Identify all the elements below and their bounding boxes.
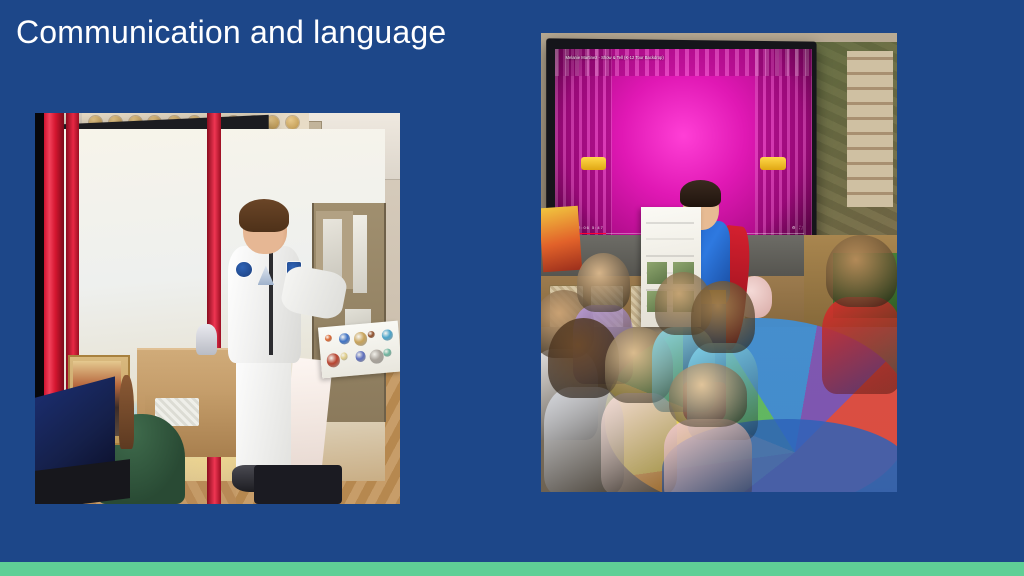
planets-chart xyxy=(318,321,400,379)
photo-right-canvas: Melanie Martinez - Show & Tell (K-12 Tou… xyxy=(541,33,897,492)
astronaut-suit-zip xyxy=(269,250,273,356)
trophy xyxy=(196,324,218,355)
superman-child-hair xyxy=(680,180,721,208)
screen-curtain-right xyxy=(755,49,811,242)
photo-left-canvas xyxy=(35,113,400,504)
video-player-controls-right[interactable]: ⚙ ⛶ xyxy=(792,225,804,230)
child-clothing xyxy=(664,419,752,492)
planet-illustration xyxy=(324,335,332,343)
page-title: Communication and language xyxy=(16,12,446,52)
wall-artwork-display xyxy=(847,51,893,207)
planet-illustration xyxy=(340,353,348,361)
astronaut-child-hair xyxy=(239,199,288,232)
fullscreen-icon[interactable]: ⛶ xyxy=(800,225,804,230)
planet-illustration xyxy=(354,351,365,362)
child-hair xyxy=(577,253,630,312)
phonics-sound-button xyxy=(286,116,299,129)
planet-illustration xyxy=(353,332,368,347)
sheet-text-line xyxy=(646,255,694,257)
seated-child xyxy=(826,235,897,391)
photo-superman-show-and-tell: Melanie Martinez - Show & Tell (K-12 Tou… xyxy=(541,33,897,492)
planet-illustration xyxy=(367,331,375,339)
slide-canvas: Communication and language xyxy=(0,0,1024,576)
door-window xyxy=(353,215,368,293)
planet-illustration xyxy=(383,349,391,357)
planet-illustration xyxy=(369,350,384,365)
astronaut-child-legs xyxy=(236,352,291,473)
sheet-text-line xyxy=(646,238,694,240)
video-total-time: 5:47 xyxy=(592,225,604,230)
child-clothing xyxy=(822,297,897,394)
seated-child xyxy=(669,363,747,492)
bottom-accent-bar xyxy=(0,562,1024,576)
wooden-statue xyxy=(119,375,134,449)
curtain-tieback-left xyxy=(581,157,607,170)
curtain-tieback-right xyxy=(760,157,786,170)
floor-mat xyxy=(254,465,342,504)
video-elapsed-time: 2:06 xyxy=(578,225,590,230)
sheet-text-line xyxy=(646,222,694,224)
planet-illustration xyxy=(382,329,393,340)
child-hair xyxy=(826,235,897,307)
child-hair xyxy=(669,363,747,426)
video-title-overlay: Melanie Martinez - Show & Tell (K-12 Tou… xyxy=(565,55,757,61)
photo-astronaut-presentation xyxy=(35,113,400,504)
planet-illustration xyxy=(326,353,341,368)
child-hair xyxy=(691,281,755,353)
planet-illustration xyxy=(338,333,349,344)
settings-icon[interactable]: ⚙ xyxy=(792,225,797,230)
screen-curtain-valance xyxy=(555,49,811,76)
